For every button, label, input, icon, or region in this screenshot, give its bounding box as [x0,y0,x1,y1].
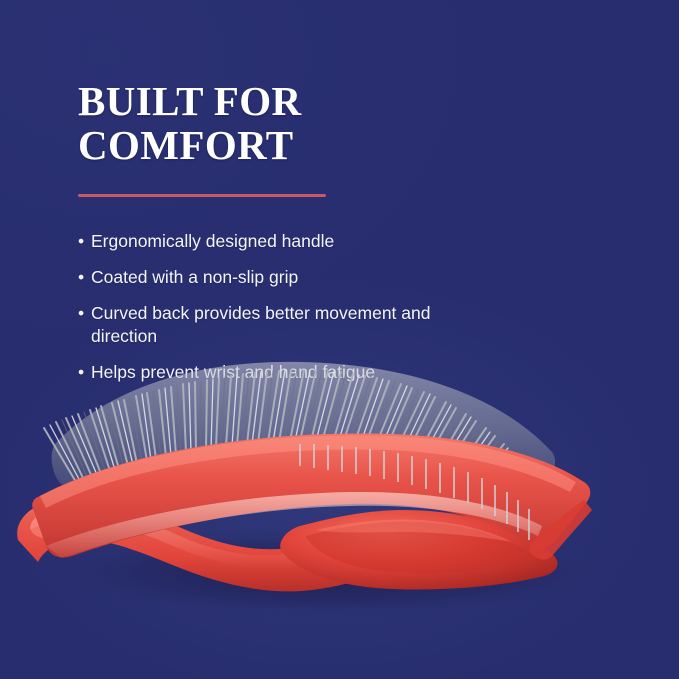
product-feature-card: BUILT FOR COMFORT Ergonomically designed… [0,0,679,679]
list-item: Coated with a non-slip grip [78,266,451,289]
title-divider [78,194,326,197]
headline-line-1: BUILT FOR [78,80,508,124]
headline-line-2: COMFORT [78,124,508,168]
page-title: BUILT FOR COMFORT [78,80,508,168]
product-image [0,340,679,679]
list-item: Ergonomically designed handle [78,230,451,253]
